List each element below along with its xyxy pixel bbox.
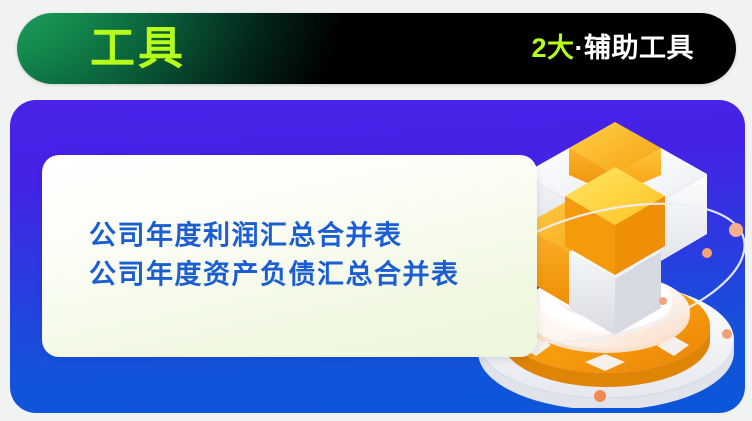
list-panel: 公司年度利润汇总合并表 公司年度资产负债汇总合并表 — [42, 155, 537, 357]
header-subtitle: 2大·辅助工具 — [531, 34, 694, 61]
list-panel-lines: 公司年度利润汇总合并表 公司年度资产负债汇总合并表 — [89, 217, 460, 296]
list-item: 公司年度资产负债汇总合并表 — [89, 256, 460, 295]
header-banner: 工具 2大·辅助工具 — [17, 13, 736, 84]
content-card: 公司年度利润汇总合并表 公司年度资产负债汇总合并表 — [10, 100, 745, 413]
header-subtitle-plain: ·辅助工具 — [575, 32, 695, 62]
page-title: 工具 — [90, 25, 186, 70]
header-subtitle-accent: 2大 — [531, 32, 574, 62]
list-item: 公司年度利润汇总合并表 — [89, 217, 460, 256]
slide-canvas: 工具 2大·辅助工具 — [0, 0, 752, 421]
